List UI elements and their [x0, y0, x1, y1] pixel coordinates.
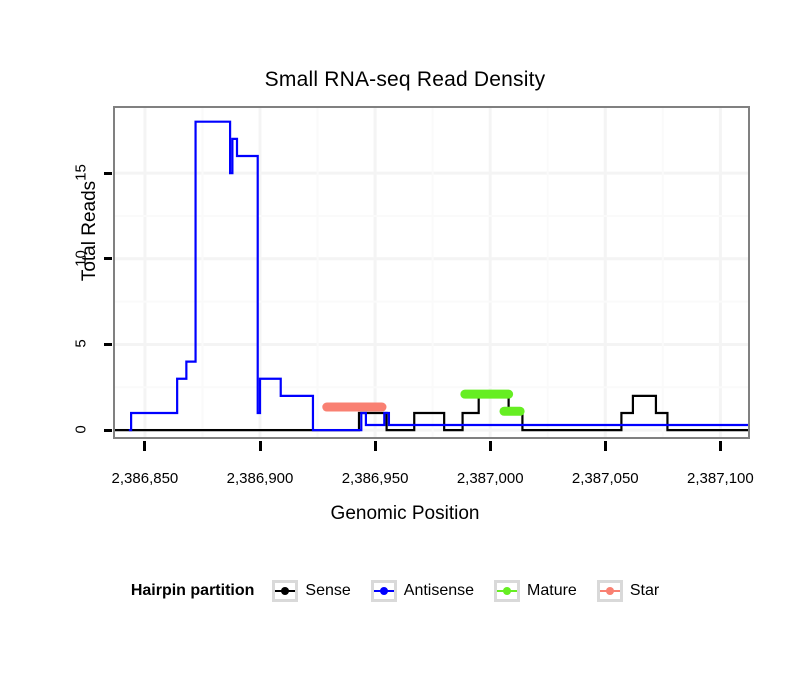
y-tick-label: 0 — [73, 415, 90, 445]
legend-key-dot — [503, 587, 511, 595]
legend-key-dot — [606, 587, 614, 595]
y-tick-mark — [104, 172, 112, 175]
legend-title: Hairpin partition — [131, 582, 255, 600]
plot-svg — [115, 108, 748, 437]
legend-key-dot — [380, 587, 388, 595]
y-tick-label: 15 — [73, 158, 90, 188]
x-tick-label: 2,386,850 — [85, 470, 205, 487]
chart-legend: Hairpin partition SenseAntisenseMatureSt… — [0, 580, 810, 602]
x-tick-label: 2,387,000 — [430, 470, 550, 487]
legend-label: Mature — [527, 582, 577, 600]
plot-inner — [115, 108, 748, 437]
x-tick-label: 2,387,100 — [660, 470, 780, 487]
chart-title: Small RNA-seq Read Density — [0, 68, 810, 92]
legend-item-sense[interactable]: Sense — [272, 580, 366, 602]
x-tick-mark — [143, 441, 146, 451]
y-tick-label: 10 — [73, 243, 90, 273]
legend-label: Antisense — [404, 582, 474, 600]
legend-key-icon — [272, 580, 298, 602]
x-axis-label: Genomic Position — [0, 503, 810, 525]
series-line-antisense — [129, 122, 748, 430]
legend-items: SenseAntisenseMatureStar — [272, 580, 679, 602]
chart-root: Small RNA-seq Read Density Total Reads G… — [0, 0, 810, 690]
x-tick-mark — [489, 441, 492, 451]
legend-key-dot — [281, 587, 289, 595]
legend-key-icon — [371, 580, 397, 602]
x-tick-mark — [374, 441, 377, 451]
legend-item-mature[interactable]: Mature — [494, 580, 593, 602]
plot-area — [113, 106, 750, 439]
legend-label: Sense — [305, 582, 350, 600]
x-tick-label: 2,387,050 — [545, 470, 665, 487]
y-tick-label: 5 — [73, 329, 90, 359]
y-tick-mark — [104, 257, 112, 260]
y-tick-mark — [104, 429, 112, 432]
x-tick-label: 2,386,900 — [200, 470, 320, 487]
x-tick-mark — [259, 441, 262, 451]
x-tick-mark — [604, 441, 607, 451]
legend-item-star[interactable]: Star — [597, 580, 675, 602]
legend-key-icon — [494, 580, 520, 602]
legend-label: Star — [630, 582, 659, 600]
legend-item-antisense[interactable]: Antisense — [371, 580, 490, 602]
x-tick-label: 2,386,950 — [315, 470, 435, 487]
y-tick-mark — [104, 343, 112, 346]
legend-key-icon — [597, 580, 623, 602]
x-tick-mark — [719, 441, 722, 451]
